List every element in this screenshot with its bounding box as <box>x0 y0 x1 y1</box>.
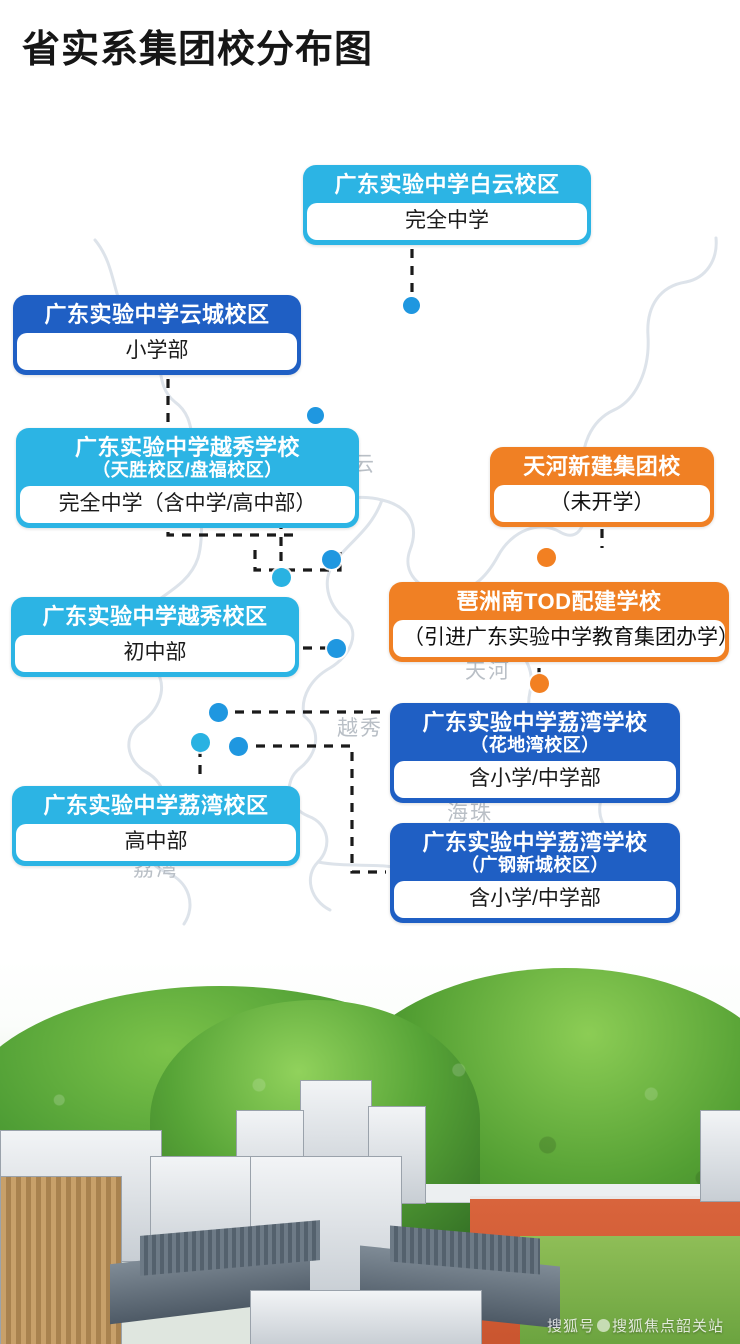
card-yuexiu-school[interactable]: 广东实验中学越秀学校 （天胜校区/盘福校区） 完全中学（含中学/高中部） <box>16 428 359 528</box>
card-tianhe-new-title: 天河新建集团校 <box>502 454 702 480</box>
yuexiu-school-dot[interactable] <box>272 568 291 587</box>
card-huadiwan-body: 含小学/中学部 <box>394 761 676 798</box>
tianhe-new-school-dot[interactable] <box>537 548 556 567</box>
card-yuexiu-school-subtitle: （天胜校区/盘福校区） <box>28 460 347 481</box>
card-yuncheng[interactable]: 广东实验中学云城校区 小学部 <box>13 295 301 375</box>
card-liwan-campus-body: 高中部 <box>16 824 296 861</box>
card-yuncheng-header: 广东实验中学云城校区 <box>17 299 297 333</box>
card-yuncheng-body: 小学部 <box>17 333 297 370</box>
page-root: 省实系集团校分布图 <box>0 0 740 1344</box>
card-huadiwan-subtitle: （花地湾校区） <box>402 735 668 756</box>
card-guanggang-header: 广东实验中学荔湾学校 （广钢新城校区） <box>394 827 676 881</box>
card-huadiwan[interactable]: 广东实验中学荔湾学校 （花地湾校区） 含小学/中学部 <box>390 703 680 803</box>
card-baiyun[interactable]: 广东实验中学白云校区 完全中学 <box>303 165 591 245</box>
card-pazhou-tod-body: （引进广东实验中学教育集团办学） <box>393 620 725 657</box>
pazhou-tod-dot[interactable] <box>530 674 549 693</box>
card-pazhou-tod-title: 琶洲南TOD配建学校 <box>401 589 717 615</box>
card-baiyun-title: 广东实验中学白云校区 <box>315 172 579 198</box>
card-yuncheng-title: 广东实验中学云城校区 <box>25 302 289 328</box>
card-tianhe-new-header: 天河新建集团校 <box>494 451 710 485</box>
card-baiyun-header: 广东实验中学白云校区 <box>307 169 587 203</box>
card-yuexiu-campus-title: 广东实验中学越秀校区 <box>23 604 287 630</box>
card-guanggang-subtitle: （广钢新城校区） <box>402 855 668 876</box>
watermark-suffix: 搜狐焦点韶关站 <box>612 1318 724 1335</box>
photo-building-right <box>700 1110 740 1202</box>
card-guanggang[interactable]: 广东实验中学荔湾学校 （广钢新城校区） 含小学/中学部 <box>390 823 680 923</box>
card-guanggang-title: 广东实验中学荔湾学校 <box>402 830 668 856</box>
sohu-logo-icon <box>597 1319 610 1332</box>
yuexiu-campus-dot[interactable] <box>327 639 346 658</box>
card-tianhe-new-body: （未开学） <box>494 485 710 522</box>
page-title: 省实系集团校分布图 <box>22 18 373 73</box>
card-yuexiu-school-body: 完全中学（含中学/高中部） <box>20 486 355 523</box>
campus-photo: 搜狐号搜狐焦点韶关站 <box>0 960 740 1344</box>
photo-building-foreground <box>250 1290 482 1344</box>
yuexiu-tiansheng-dot[interactable] <box>322 550 341 569</box>
card-liwan-campus[interactable]: 广东实验中学荔湾校区 高中部 <box>12 786 300 866</box>
card-huadiwan-header: 广东实验中学荔湾学校 （花地湾校区） <box>394 707 676 761</box>
card-pazhou-tod[interactable]: 琶洲南TOD配建学校 （引进广东实验中学教育集团办学） <box>389 582 729 662</box>
card-tianhe-new[interactable]: 天河新建集团校 （未开学） <box>490 447 714 527</box>
card-yuexiu-school-header: 广东实验中学越秀学校 （天胜校区/盘福校区） <box>20 432 355 486</box>
photo-building-louver <box>0 1176 122 1344</box>
card-liwan-campus-header: 广东实验中学荔湾校区 <box>16 790 296 824</box>
card-yuexiu-campus[interactable]: 广东实验中学越秀校区 初中部 <box>11 597 299 677</box>
card-guanggang-body: 含小学/中学部 <box>394 881 676 918</box>
watermark-prefix: 搜狐号 <box>547 1318 595 1335</box>
map-area: 白云 天河 越秀 海珠 荔湾 广东实验中学白云校区 完全中学 广东实验中学云城校… <box>0 120 740 960</box>
card-huadiwan-title: 广东实验中学荔湾学校 <box>402 710 668 736</box>
guanggang-dot[interactable] <box>229 737 248 756</box>
huadiwan-dot[interactable] <box>209 703 228 722</box>
card-baiyun-body: 完全中学 <box>307 203 587 240</box>
photo-watermark: 搜狐号搜狐焦点韶关站 <box>547 1315 724 1336</box>
card-yuexiu-campus-body: 初中部 <box>15 635 295 672</box>
card-liwan-campus-title: 广东实验中学荔湾校区 <box>24 793 288 819</box>
card-yuexiu-campus-header: 广东实验中学越秀校区 <box>15 601 295 635</box>
baiyun-campus-dot[interactable] <box>403 297 420 314</box>
district-label-yuexiu: 越秀 <box>337 712 383 742</box>
card-pazhou-tod-header: 琶洲南TOD配建学校 <box>393 586 725 620</box>
yuncheng-campus-dot[interactable] <box>307 407 324 424</box>
card-yuexiu-school-title: 广东实验中学越秀学校 <box>28 435 347 461</box>
liwan-campus-dot[interactable] <box>191 733 210 752</box>
